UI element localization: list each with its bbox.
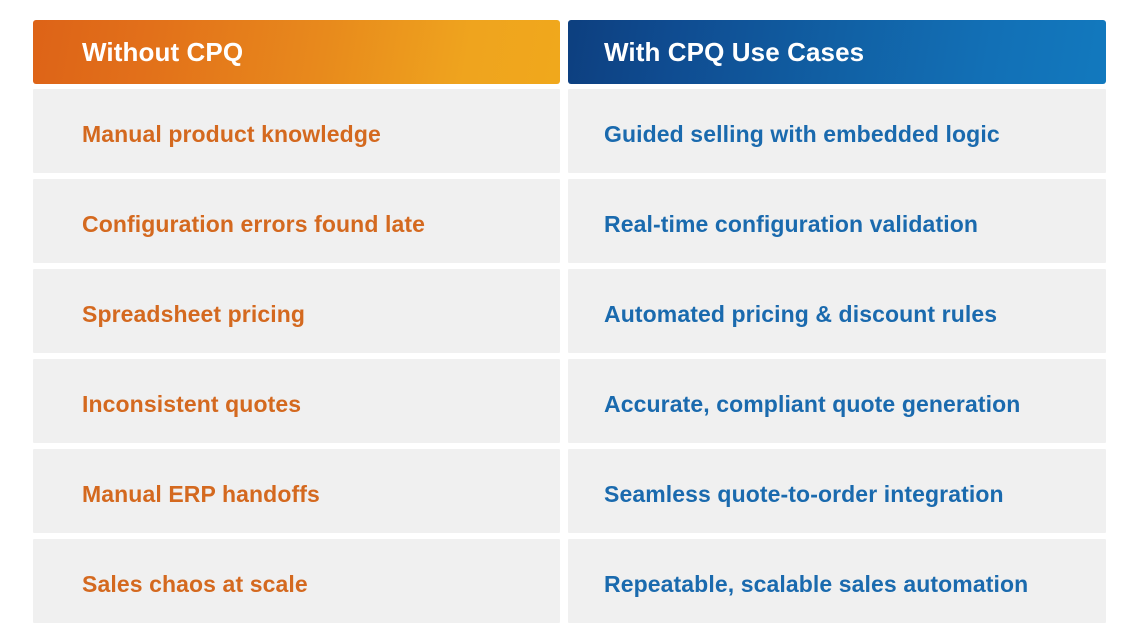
table-row: Guided selling with embedded logic	[568, 89, 1106, 173]
table-row: Inconsistent quotes	[33, 359, 560, 443]
table-row: Real-time configuration validation	[568, 179, 1106, 263]
row-list-without-cpq: Manual product knowledge Configuration e…	[33, 89, 560, 623]
column-header-with-cpq-use-cases: With CPQ Use Cases	[568, 20, 1106, 84]
column-with-cpq-use-cases: With CPQ Use Cases Guided selling with e…	[568, 20, 1106, 629]
row-list-with-cpq-use-cases: Guided selling with embedded logic Real-…	[568, 89, 1106, 623]
table-row: Configuration errors found late	[33, 179, 560, 263]
row-label: Automated pricing & discount rules	[604, 301, 997, 327]
column-without-cpq: Without CPQ Manual product knowledge Con…	[33, 20, 560, 629]
table-row: Manual ERP handoffs	[33, 449, 560, 533]
column-header-label-without-cpq: Without CPQ	[82, 39, 243, 65]
table-row: Repeatable, scalable sales automation	[568, 539, 1106, 623]
table-row: Spreadsheet pricing	[33, 269, 560, 353]
row-label: Accurate, compliant quote generation	[604, 391, 1020, 417]
row-label: Real-time configuration validation	[604, 211, 978, 237]
table-row: Sales chaos at scale	[33, 539, 560, 623]
column-header-label-with-cpq-use-cases: With CPQ Use Cases	[604, 39, 864, 65]
row-label: Sales chaos at scale	[82, 571, 308, 597]
row-label: Manual product knowledge	[82, 121, 381, 147]
table-row: Manual product knowledge	[33, 89, 560, 173]
table-row: Seamless quote-to-order integration	[568, 449, 1106, 533]
table-row: Automated pricing & discount rules	[568, 269, 1106, 353]
row-label: Spreadsheet pricing	[82, 301, 305, 327]
row-label: Seamless quote-to-order integration	[604, 481, 1004, 507]
row-label: Configuration errors found late	[82, 211, 425, 237]
row-label: Manual ERP handoffs	[82, 481, 320, 507]
row-label: Repeatable, scalable sales automation	[604, 571, 1028, 597]
table-row: Accurate, compliant quote generation	[568, 359, 1106, 443]
column-header-without-cpq: Without CPQ	[33, 20, 560, 84]
comparison-board: Without CPQ Manual product knowledge Con…	[0, 0, 1139, 642]
row-label: Guided selling with embedded logic	[604, 121, 1000, 147]
row-label: Inconsistent quotes	[82, 391, 301, 417]
